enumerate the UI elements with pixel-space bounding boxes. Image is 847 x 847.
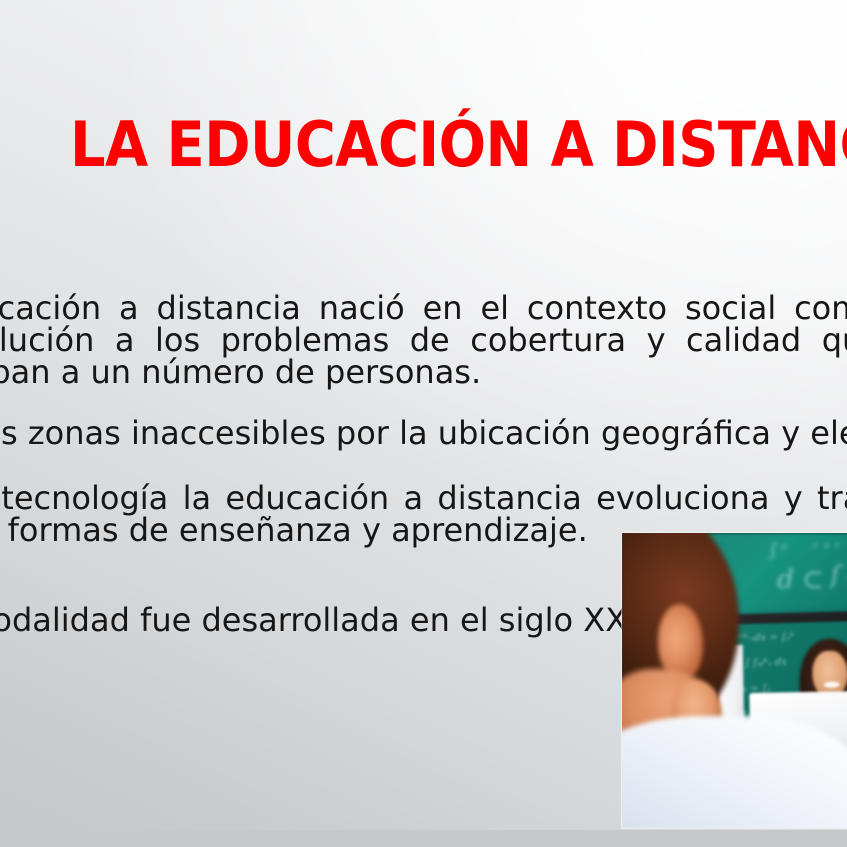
slide-canvas: LA EDUCACIÓN A DISTANCIA La educación a … bbox=[0, 0, 847, 847]
student-shirt bbox=[622, 716, 847, 828]
page-title: LA EDUCACIÓN A DISTANCIA bbox=[70, 114, 847, 176]
chalk-mark: ʃ ᵃ bbox=[771, 539, 789, 560]
chalk-mark: ſ ɑ bbox=[831, 561, 847, 589]
bottom-gray-band bbox=[0, 830, 847, 847]
photo-scene: ʃ ᵃ ᶜ ᵃ ʳ d ⊂ ſ ɑ ʃₓ ᵈ ᵗ ∫ʃ₂ᵃ⁺ᵇ·ₓdx = ∫ₐ… bbox=[622, 533, 847, 828]
chalk-mark: ᶜ ᵃ ʳ bbox=[813, 538, 840, 557]
chalk-mark: d ⊂ bbox=[777, 565, 824, 595]
paragraph-1: La educación a distancia nació en el con… bbox=[0, 292, 847, 388]
paragraph-2: Aquellas zonas inaccesibles por la ubica… bbox=[0, 417, 847, 449]
slide-photo: ʃ ᵃ ᶜ ᵃ ʳ d ⊂ ſ ɑ ʃₓ ᵈ ᵗ ∫ʃ₂ᵃ⁺ᵇ·ₓdx = ∫ₐ… bbox=[622, 533, 847, 828]
video-call-person-smile bbox=[823, 681, 839, 687]
